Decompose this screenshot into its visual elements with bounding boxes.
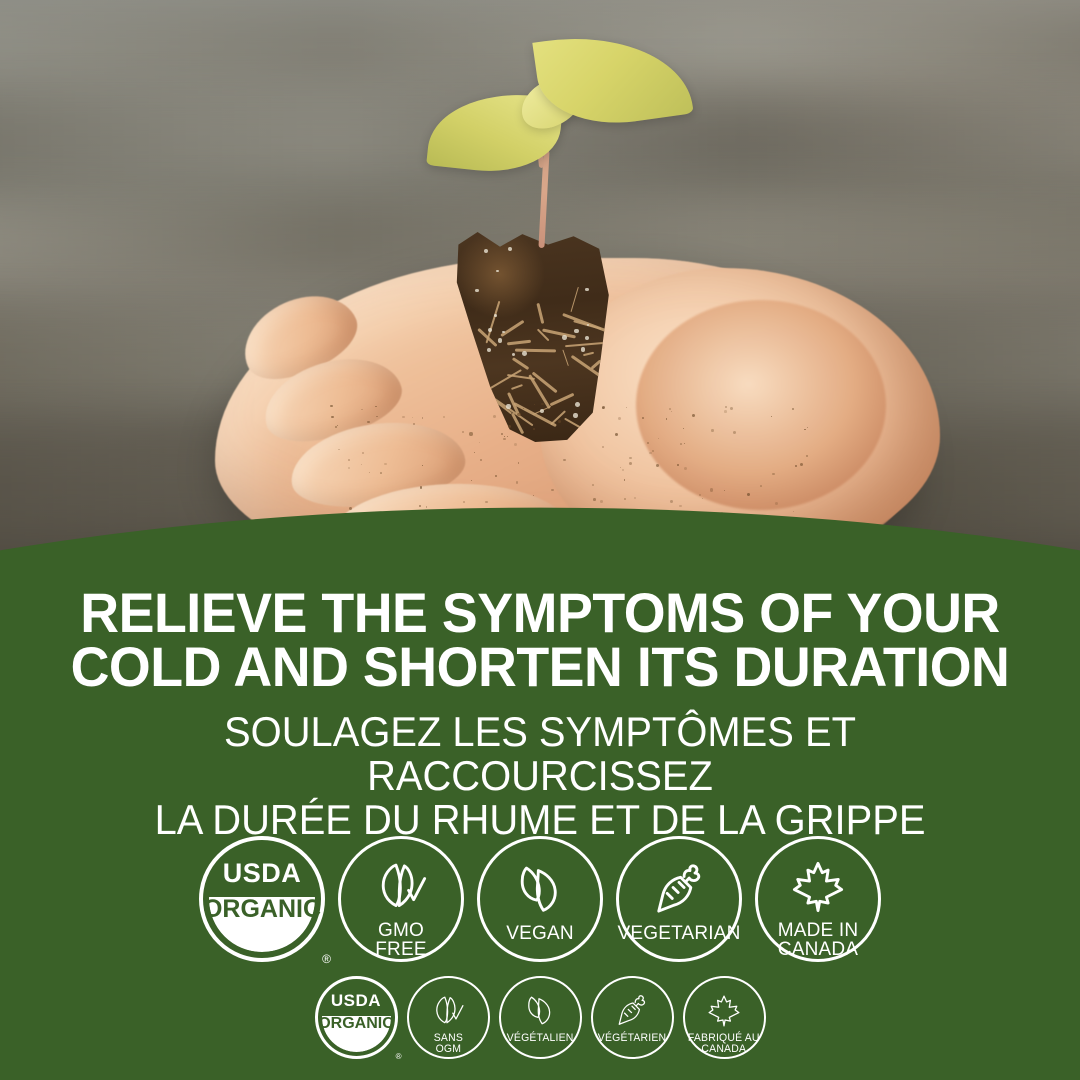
carrot-icon [615, 988, 649, 1028]
badge-made-in-canada[interactable]: MADE IN CANADA [755, 836, 881, 962]
badge-usda-organic-fr[interactable]: USDA ORGANIC ® [315, 976, 398, 1059]
headline-line-2: COLD AND SHORTEN ITS DURATION [43, 640, 1038, 694]
two-leaves-icon [513, 855, 567, 917]
marketing-copy: RELIEVE THE SYMPTOMS OF YOUR COLD AND SH… [0, 586, 1080, 842]
thumb-mound-shape [636, 300, 886, 510]
page-title: RELIEVE THE SYMPTOMS OF YOUR COLD AND SH… [22, 586, 1059, 694]
usda-word: USDA [199, 858, 325, 889]
maple-leaf-icon [707, 994, 741, 1028]
badge-caption: MADE IN CANADA [778, 921, 859, 959]
certification-badges-french: USDA ORGANIC ® SANS OGM VÉGÉTALIEN [0, 976, 1080, 1059]
page-subtitle-french: SOULAGEZ LES SYMPTÔMES ET RACCOURCISSEZ … [27, 710, 1053, 842]
corn-check-icon [431, 988, 465, 1028]
carrot-icon [652, 863, 706, 917]
badge-caption: FABRIQUÉ AU CANADA [688, 1033, 760, 1055]
subhead-line-1: SOULAGEZ LES SYMPTÔMES ET RACCOURCISSEZ [224, 708, 856, 799]
badge-vegetarien-fr[interactable]: VÉGÉTARIEN [591, 976, 674, 1059]
registered-mark-icon: ® [396, 1052, 402, 1061]
badge-vegan[interactable]: VEGAN [477, 836, 603, 962]
badge-gmo-free[interactable]: GMO FREE [338, 836, 464, 962]
organic-word: ORGANIC [199, 895, 325, 924]
corn-check-icon [374, 860, 428, 914]
carrot-icon [615, 994, 649, 1028]
organic-word: ORGANIC [315, 1015, 398, 1033]
two-leaves-icon [513, 863, 567, 917]
badge-caption: VÉGÉTARIEN [598, 1033, 666, 1044]
promotional-banner: RELIEVE THE SYMPTOMS OF YOUR COLD AND SH… [0, 0, 1080, 1080]
registered-mark-icon: ® [322, 952, 331, 966]
two-leaves-icon [523, 988, 557, 1028]
badge-caption: VEGETARIAN [617, 924, 740, 943]
certification-badges-english: USDA ORGANIC ® GMO FREE VEGAN [0, 836, 1080, 962]
maple-leaf-icon [791, 855, 845, 914]
corn-check-icon [374, 855, 428, 914]
two-leaves-icon [523, 994, 557, 1028]
maple-leaf-icon [707, 988, 741, 1028]
carrot-icon [652, 855, 706, 917]
badge-caption: VÉGÉTALIEN [507, 1033, 574, 1044]
badge-vegetalien[interactable]: VÉGÉTALIEN [499, 976, 582, 1059]
badge-caption: GMO FREE [375, 921, 426, 959]
badge-caption: VEGAN [506, 924, 574, 943]
badge-fabrique-au-canada[interactable]: FABRIQUÉ AU CANADA [683, 976, 766, 1059]
badge-sans-ogm[interactable]: SANS OGM [407, 976, 490, 1059]
badge-vegetarian[interactable]: VEGETARIAN [616, 836, 742, 962]
badge-usda-organic[interactable]: USDA ORGANIC ® [199, 836, 325, 962]
corn-check-icon [431, 994, 465, 1028]
badge-caption: SANS OGM [433, 1033, 462, 1055]
maple-leaf-icon [791, 860, 845, 914]
usda-word: USDA [315, 991, 398, 1011]
